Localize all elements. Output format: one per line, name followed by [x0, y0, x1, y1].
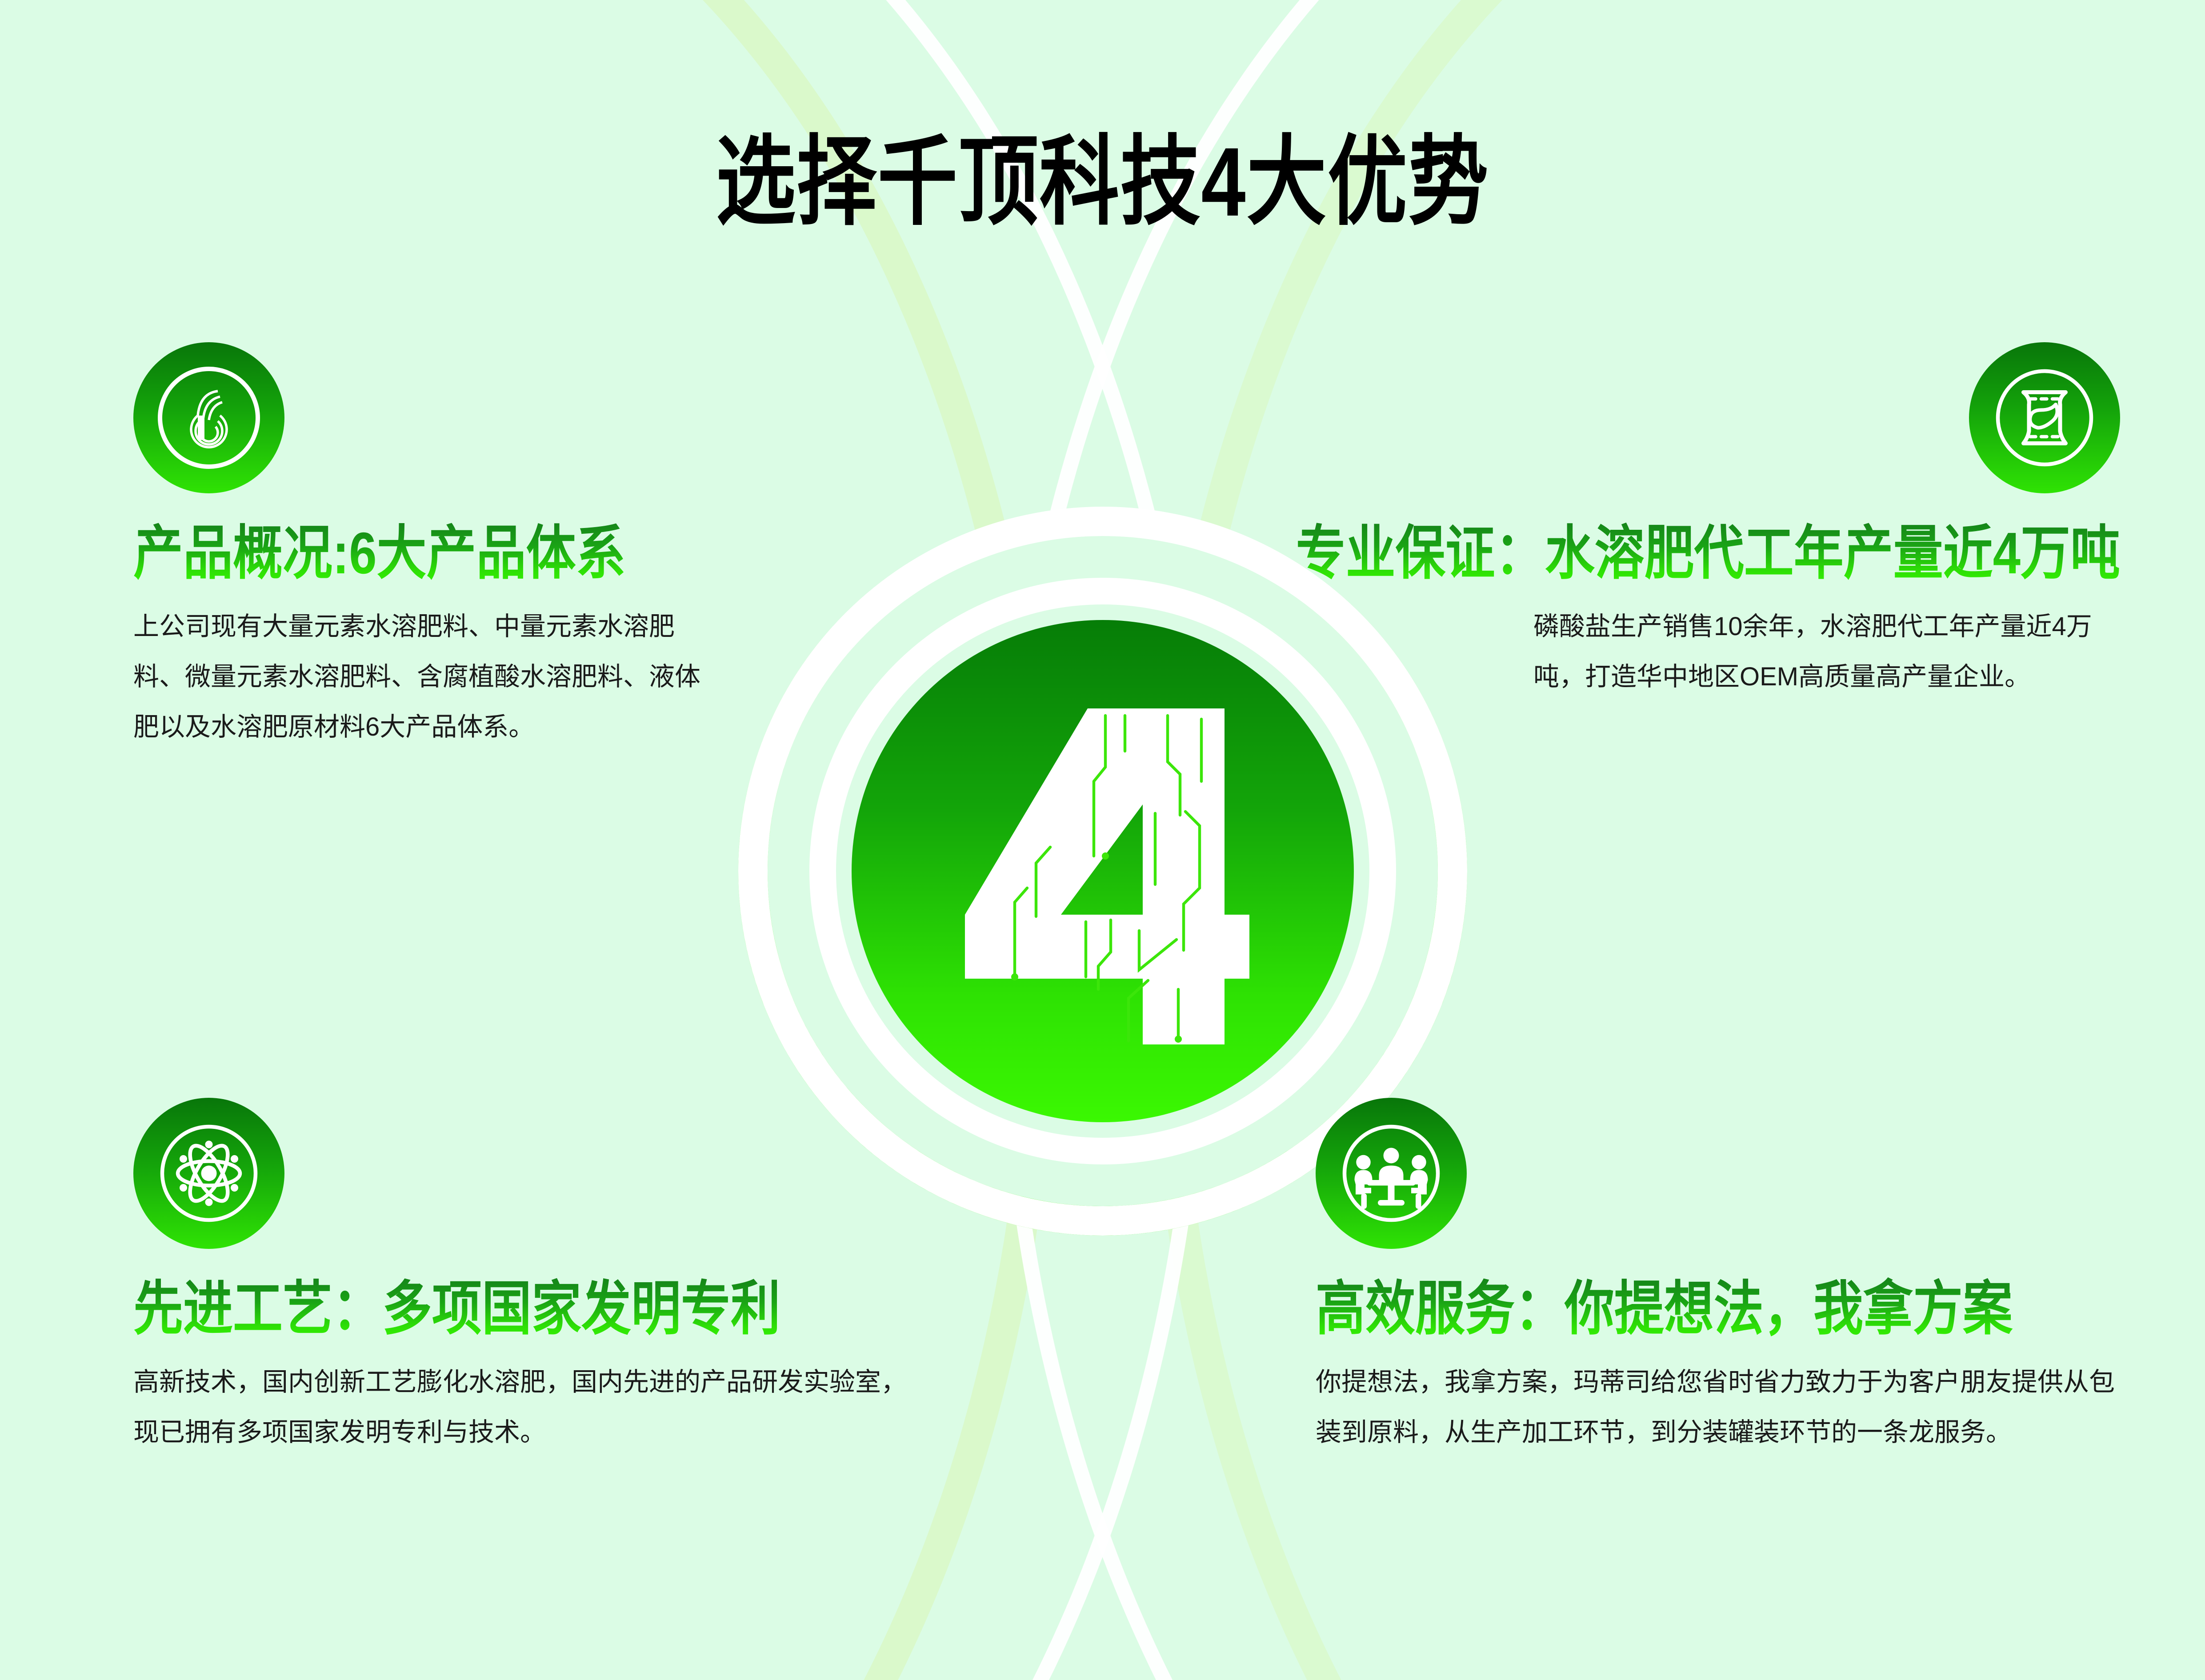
card-heading: 先进工艺：多项国家发明专利	[133, 1276, 1013, 1341]
number-six-rings-icon	[133, 342, 284, 493]
card-body-text: 磷酸盐生产销售10余年，水溶肥代工年产量近4万吨，打造华中地区OEM高质量高产量…	[1533, 601, 2120, 702]
card-body-text: 你提想法，我拿方案，玛蒂司给您省时省力致力于为客户朋友提供从包装到原料，从生产加…	[1316, 1357, 2116, 1457]
atom-icon	[133, 1098, 284, 1249]
card-heading: 专业保证：水溶肥代工年产量近4万吨	[1196, 521, 2120, 585]
meeting-table-icon	[1316, 1098, 1467, 1249]
card-body-text: 高新技术，国内创新工艺膨化水溶肥，国内先进的产品研发实验室，现已拥有多项国家发明…	[133, 1357, 916, 1457]
feature-card-efficient-service: 高效服务：你提想法，我拿方案 你提想法，我拿方案，玛蒂司给您省时省力致力于为客户…	[1316, 1098, 2129, 1457]
card-heading: 高效服务：你提想法，我拿方案	[1316, 1276, 2129, 1341]
feature-card-advanced-process: 先进工艺：多项国家发明专利 高新技术，国内创新工艺膨化水溶肥，国内先进的产品研发…	[133, 1098, 1013, 1457]
page-title: 选择千顶科技4大优势	[0, 102, 2205, 244]
card-body-text: 上公司现有大量元素水溶肥料、中量元素水溶肥料、微量元素水溶肥料、含腐植酸水溶肥料…	[133, 601, 707, 752]
number-four-circuit-icon	[956, 698, 1249, 1044]
feature-card-professional-guarantee: 专业保证：水溶肥代工年产量近4万吨 磷酸盐生产销售10余年，水溶肥代工年产量近4…	[1196, 342, 2120, 702]
fertilizer-bag-icon	[1969, 342, 2120, 493]
feature-card-product-overview: 产品概况:6大产品体系 上公司现有大量元素水溶肥料、中量元素水溶肥料、微量元素水…	[133, 342, 827, 752]
card-heading: 产品概况:6大产品体系	[133, 521, 827, 585]
